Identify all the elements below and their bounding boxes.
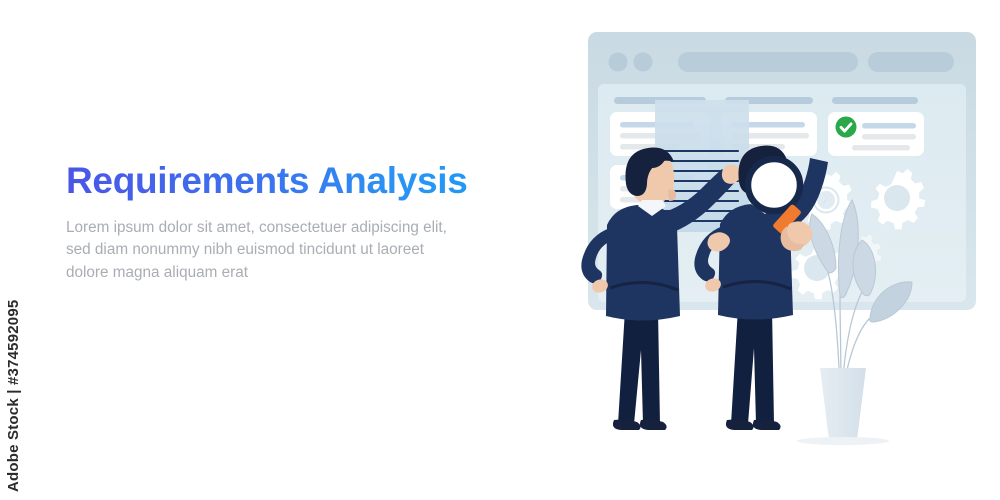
page-subtitle: Lorem ipsum dolor sit amet, consectetuer…: [66, 217, 458, 284]
shoe-right: [753, 419, 781, 430]
trousers: [618, 310, 660, 424]
plant-shadow: [797, 437, 889, 445]
requirements-analysis-illustration: [540, 0, 1000, 500]
adobe-stock-watermark: Adobe Stock | #374592095: [0, 0, 26, 500]
check-circle-icon: [836, 117, 857, 138]
window-dot-1: [609, 53, 628, 72]
address-pill: [678, 52, 858, 72]
column-header-bar: [832, 97, 918, 104]
hero-text-block: Requirements Analysis Lorem ipsum dolor …: [66, 160, 536, 284]
window-dot-2: [634, 53, 653, 72]
illustration-canvas: Requirements Analysis Lorem ipsum dolor …: [0, 0, 1000, 500]
shoe-left: [726, 419, 754, 430]
page-title: Requirements Analysis: [66, 160, 536, 203]
trousers: [731, 308, 774, 424]
plant-pot: [820, 368, 866, 440]
magnifier-lens: [748, 159, 800, 211]
action-pill: [868, 52, 954, 72]
watermark-bar: Adobe Stock | #374592095: [0, 0, 26, 500]
content-card-approved: [828, 112, 924, 156]
shoe-left: [613, 419, 641, 430]
shoe-right: [640, 419, 667, 430]
